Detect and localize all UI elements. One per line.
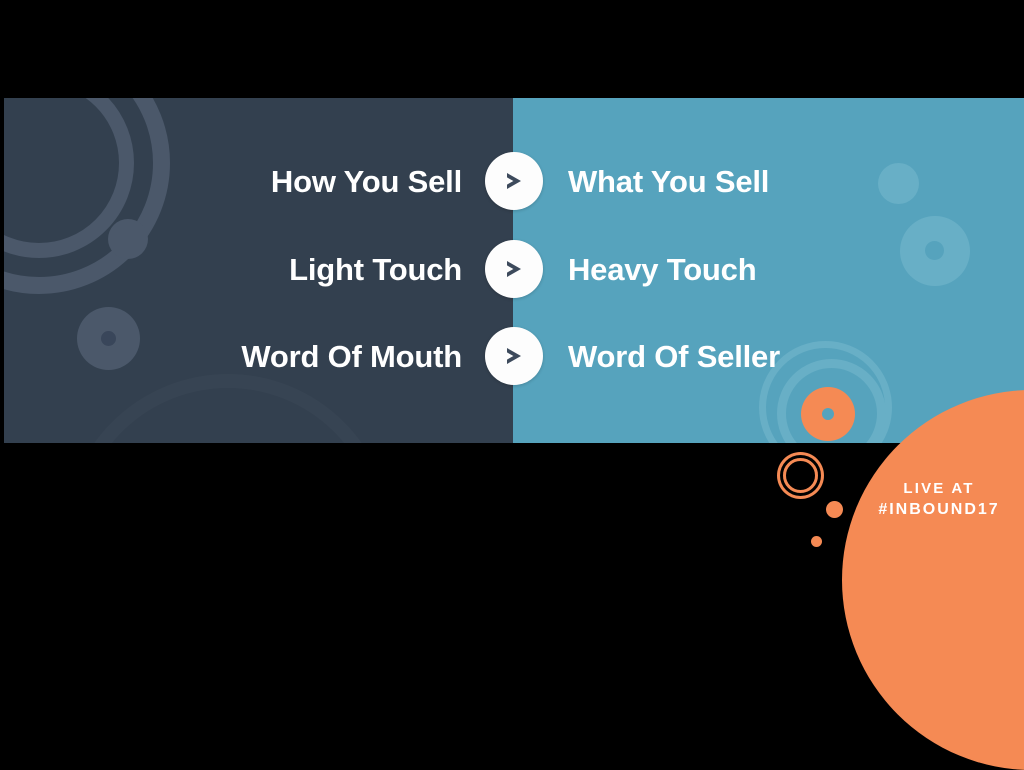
brand-blob-shape [842, 390, 1024, 770]
row-left-label: How You Sell [271, 166, 462, 197]
chevron-right-icon [485, 152, 543, 210]
row-right-label: What You Sell [568, 166, 769, 197]
brand-dot-icon [811, 536, 822, 547]
video-frame: How You Sell What You Sell Light Touch H… [0, 0, 1024, 551]
brand-text: LIVE AT #INBOUND17 [864, 478, 1014, 520]
presentation-slide: How You Sell What You Sell Light Touch H… [4, 98, 1024, 443]
brand-dot-icon [826, 501, 843, 518]
row-left-label: Word Of Mouth [241, 341, 462, 372]
chevron-right-icon [485, 240, 543, 298]
chevron-right-icon [485, 327, 543, 385]
comparison-row: Word Of Mouth Word Of Seller [4, 327, 1024, 385]
comparison-row: Light Touch Heavy Touch [4, 240, 1024, 298]
brand-ring-icon [783, 458, 818, 493]
brand-line-hashtag: #INBOUND17 [864, 499, 1014, 520]
row-left-label: Light Touch [289, 254, 462, 285]
comparison-rows: How You Sell What You Sell Light Touch H… [4, 98, 1024, 443]
row-right-label: Heavy Touch [568, 254, 756, 285]
brand-line-live-at: LIVE AT [864, 478, 1014, 499]
comparison-row: How You Sell What You Sell [4, 152, 1024, 210]
row-right-label: Word Of Seller [568, 341, 780, 372]
